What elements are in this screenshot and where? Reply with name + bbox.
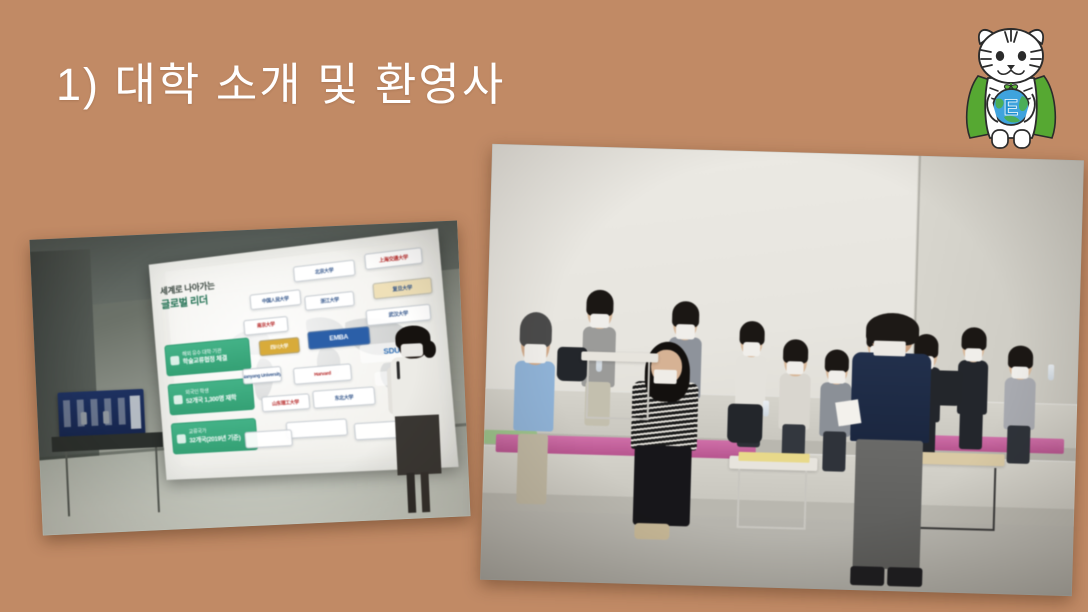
face-mask [965,348,982,361]
partner-logo-chip: Nanyang University [242,366,282,385]
face-mask [401,343,423,357]
partner-logo-chip [244,429,293,448]
partner-logo-chip: 山东理工大学 [261,393,310,412]
face-mask [743,342,760,356]
face-mask [590,313,609,328]
stat-icon [177,433,187,443]
mic-rack-slots-icon [58,389,146,440]
white-tiger-mascot-logo: E [950,18,1072,158]
face-mask [676,324,695,339]
face-mask [873,340,906,356]
presenter-person [376,327,457,514]
water-bottle [763,400,769,416]
table-legs [736,469,807,530]
partner-logo-chip [286,418,348,439]
backpack [727,403,764,443]
water-bottle [1048,364,1054,380]
page-title: 1) 대학 소개 및 환영사 [56,48,505,113]
person-staff-blue-shirt [506,319,561,495]
table-legs [585,360,650,420]
face-mask [524,344,547,364]
globe-letter: E [1004,95,1019,120]
lecture-room-presentation-photo: 세계로 나아가는 글로벌 리더 해외 유수 대학·기관 학술교류협정 체결 외국… [30,220,471,535]
handout-paper [836,399,862,426]
person-standing-foreground [838,319,940,592]
stat-box: 외국인 학생 52개국 1,300명 재학 [168,377,255,415]
microphone-charging-rack [58,389,146,440]
stat-icon [170,355,180,365]
person-seated [999,350,1041,464]
stat-icon [174,394,184,404]
face-mask [787,361,804,375]
face-mask [828,370,845,383]
presentation-slide: 1) 대학 소개 및 환영사 [0,0,1088,612]
face-mask [654,369,677,384]
auditorium-students-photo [480,144,1084,596]
person-seated [773,344,815,467]
mascot-icon: E [950,18,1072,158]
face-mask [1012,366,1029,379]
